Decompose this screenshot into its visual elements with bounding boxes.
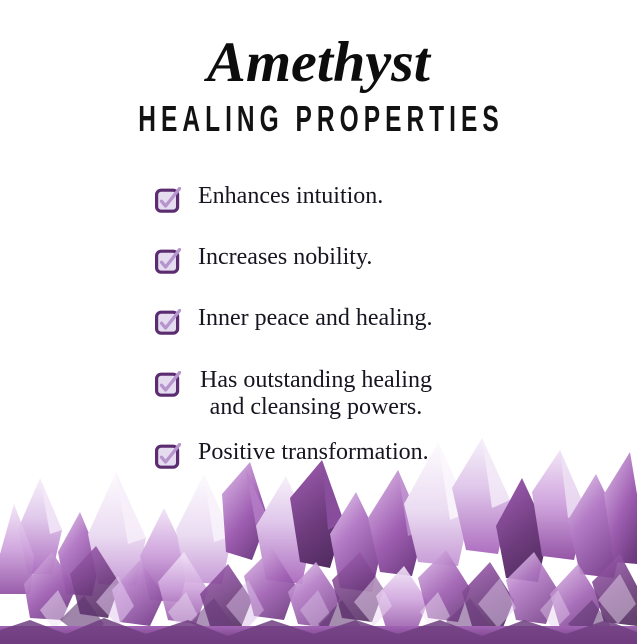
checkbox-checked-icon [155,373,178,396]
poster-header: Amethyst HEALING PROPERTIES [0,0,637,136]
list-item-label: Increases nobility. [198,244,372,270]
list-item: Increases nobility. [155,244,637,273]
properties-list: Enhances intuition. Increases nobility. … [0,183,637,468]
list-item: Positive transformation. [155,439,637,468]
list-item: Has outstanding healing and cleansing po… [155,367,637,421]
list-item-label: Inner peace and healing. [198,305,433,331]
list-item: Enhances intuition. [155,183,637,212]
checkbox-checked-icon [155,445,178,468]
list-item-label: Positive transformation. [198,439,429,465]
page-subtitle: HEALING PROPERTIES [89,90,548,138]
amethyst-healing-properties-poster: Amethyst HEALING PROPERTIES Enhances int… [0,0,637,644]
list-item-label: Has outstanding healing and cleansing po… [198,367,432,421]
page-title: Amethyst [0,0,637,91]
list-item-label: Enhances intuition. [198,183,383,209]
list-item: Inner peace and healing. [155,305,637,334]
checkbox-checked-icon [155,311,178,334]
checkbox-checked-icon [155,250,178,273]
checkbox-checked-icon [155,189,178,212]
